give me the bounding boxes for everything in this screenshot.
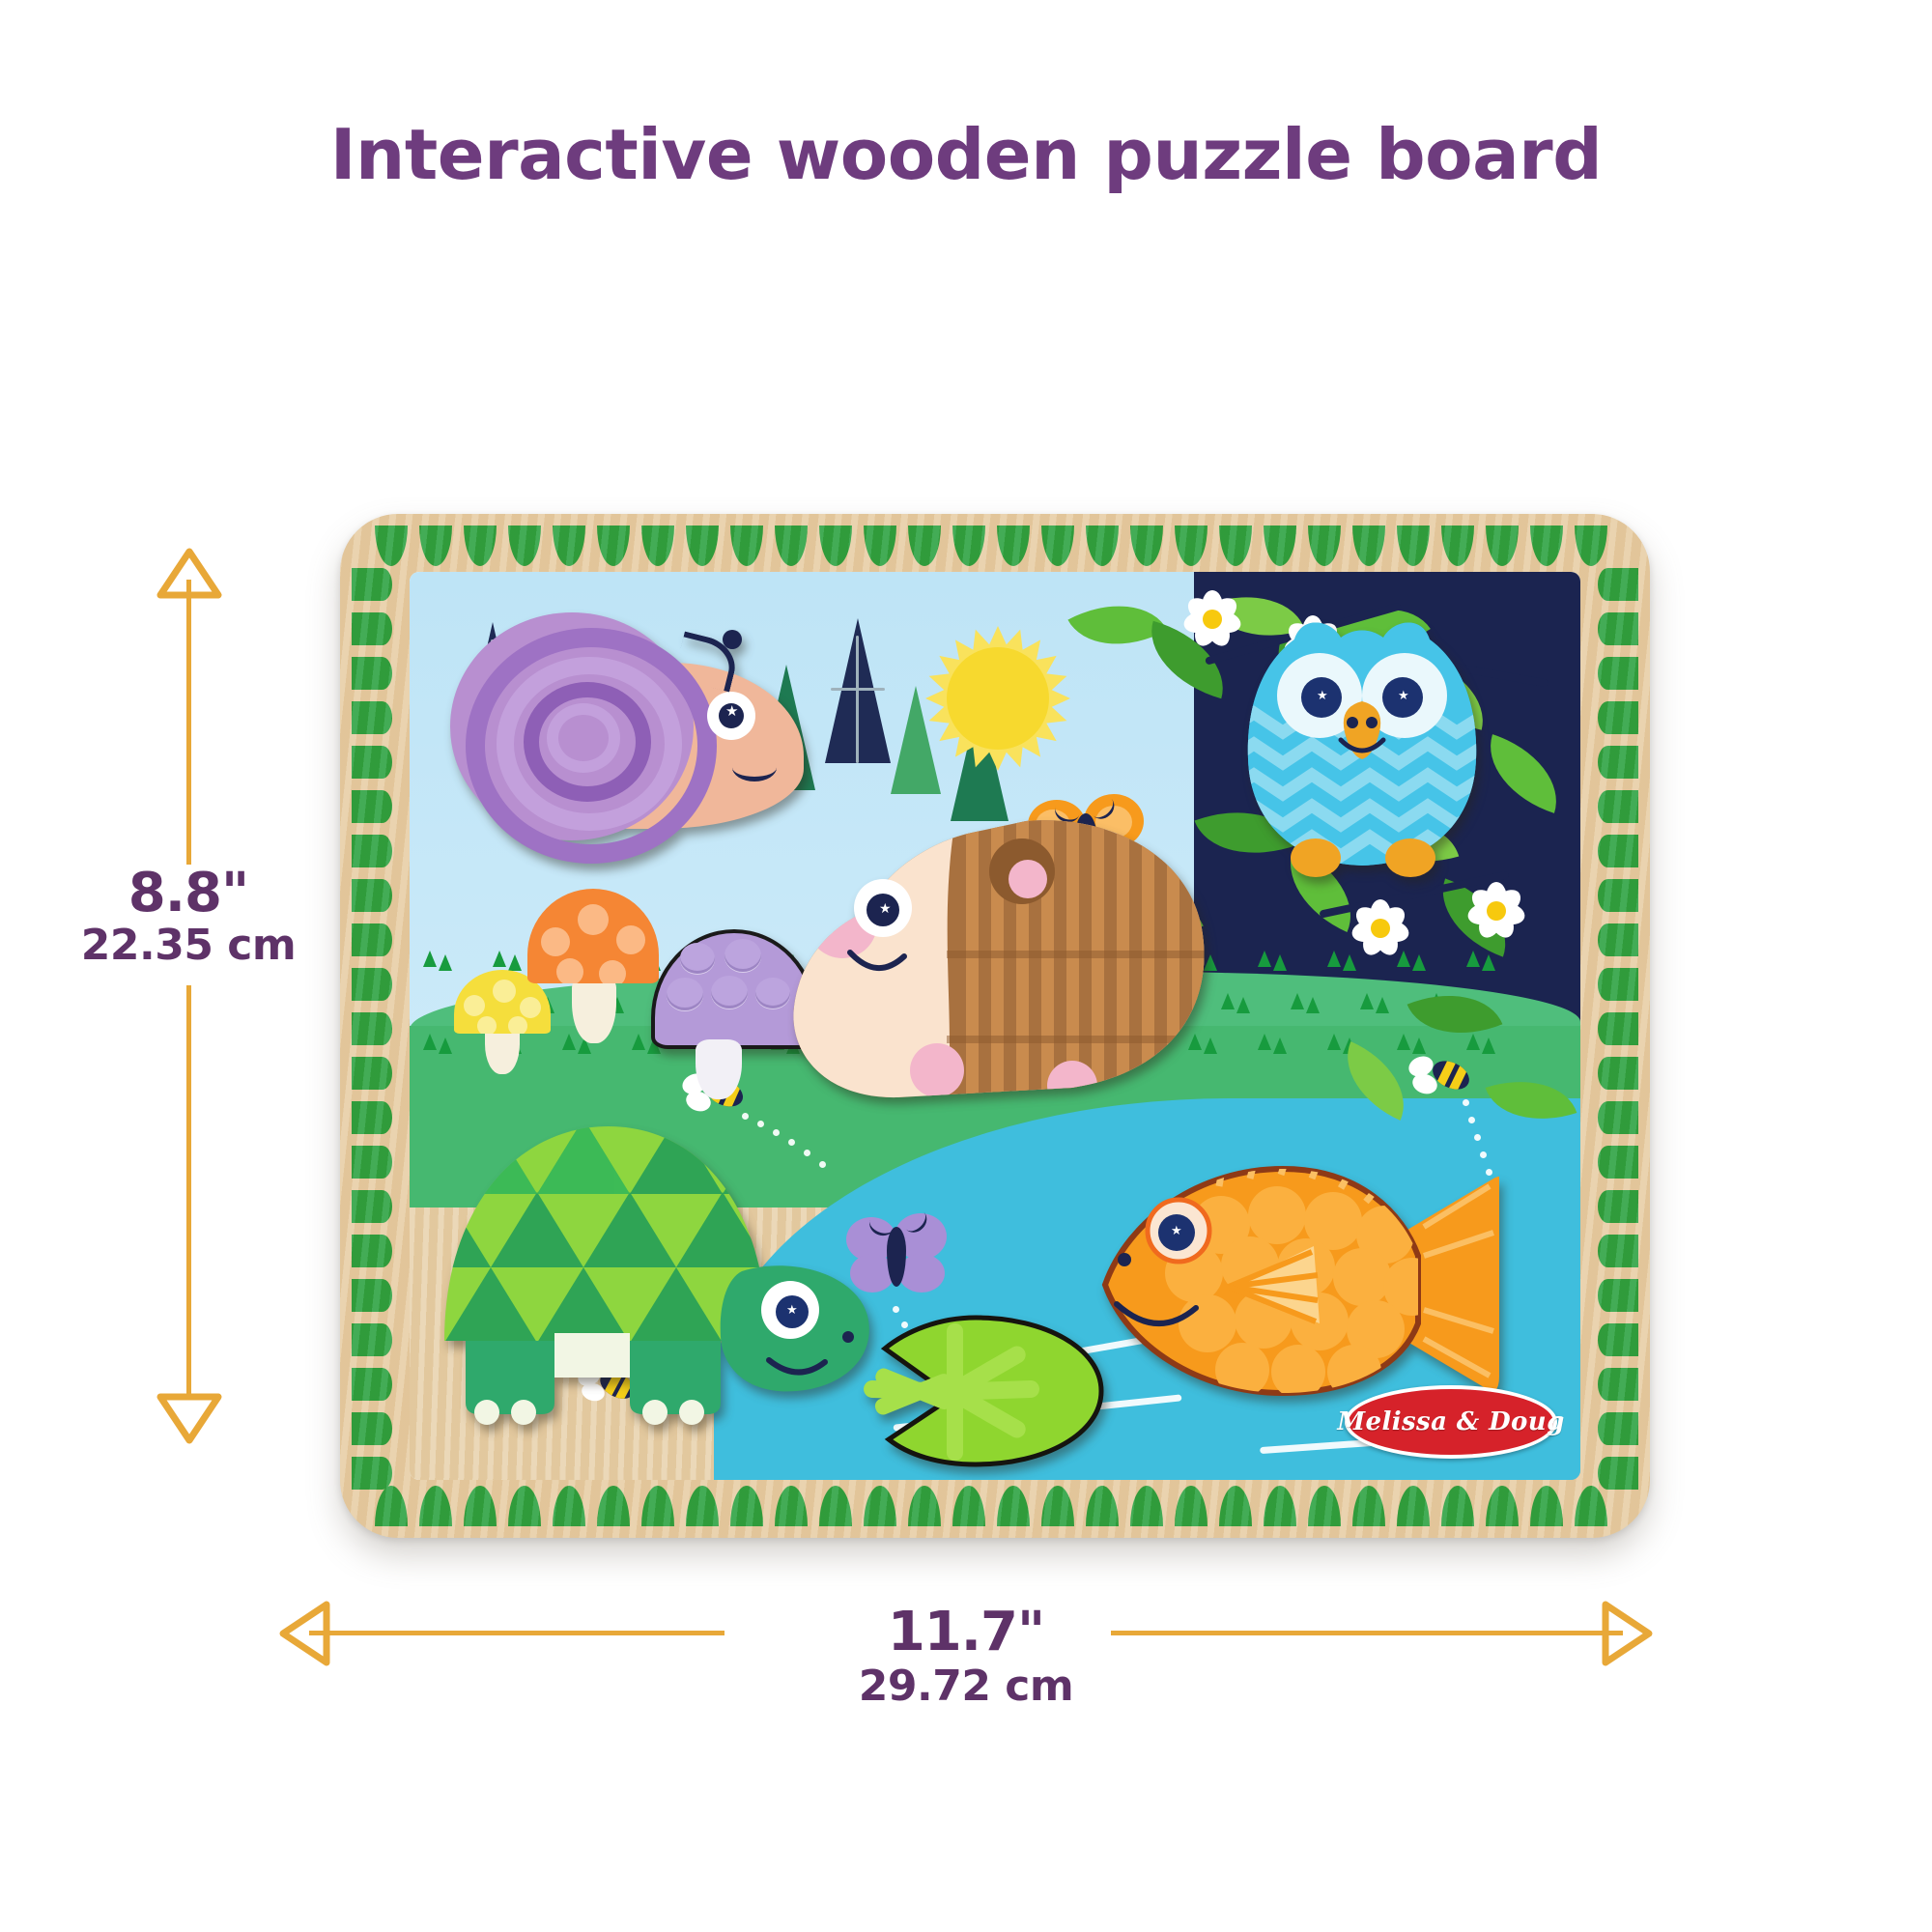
tree-branch-3 xyxy=(831,688,885,691)
lilypad-piece[interactable] xyxy=(846,1314,1105,1470)
border-leaf-left-6 xyxy=(352,835,392,867)
height-arrow-down-icon xyxy=(155,1391,224,1445)
width-value-imperial: 11.7" xyxy=(720,1604,1212,1662)
height-line-lower xyxy=(186,985,191,1396)
border-leaf-left-4 xyxy=(352,746,392,779)
border-leaf-right-19 xyxy=(1598,1412,1638,1445)
border-leaf-right-4 xyxy=(1598,746,1638,779)
border-leaf-top-0 xyxy=(375,526,408,566)
border-leaf-left-15 xyxy=(352,1235,392,1267)
border-leaf-right-16 xyxy=(1598,1279,1638,1312)
owl-eye-star-right-icon: ★ xyxy=(1398,690,1409,702)
border-leaf-top-14 xyxy=(997,526,1030,566)
border-leaf-left-12 xyxy=(352,1101,392,1134)
border-leaf-top-6 xyxy=(641,526,674,566)
border-leaf-left-10 xyxy=(352,1012,392,1045)
border-leaf-bottom-14 xyxy=(997,1486,1030,1526)
owl-piece[interactable]: ★ ★ xyxy=(1235,605,1490,887)
height-value-metric: 22.35 cm xyxy=(39,923,338,969)
border-leaf-bottom-23 xyxy=(1397,1486,1430,1526)
grass-blade-55 xyxy=(1236,997,1250,1013)
brand-logo-text: Melissa & Doug xyxy=(1337,1407,1564,1436)
border-leaf-top-21 xyxy=(1308,526,1341,566)
border-leaf-top-24 xyxy=(1441,526,1474,566)
width-line-left xyxy=(309,1631,724,1635)
border-leaf-top-7 xyxy=(686,526,719,566)
border-leaf-top-17 xyxy=(1130,526,1163,566)
border-leaf-left-8 xyxy=(352,923,392,956)
border-leaf-left-17 xyxy=(352,1323,392,1356)
border-leaf-right-20 xyxy=(1598,1457,1638,1490)
border-leaf-left-20 xyxy=(352,1457,392,1490)
border-leaf-bottom-1 xyxy=(419,1486,452,1526)
border-leaf-right-6 xyxy=(1598,835,1638,867)
grass-blade-59 xyxy=(1376,997,1389,1013)
border-leaf-right-13 xyxy=(1598,1146,1638,1179)
border-leaf-right-17 xyxy=(1598,1323,1638,1356)
wooden-puzzle-board[interactable]: ★ xyxy=(340,514,1650,1538)
border-leaf-right-15 xyxy=(1598,1235,1638,1267)
border-leaf-top-23 xyxy=(1397,526,1430,566)
border-leaf-right-8 xyxy=(1598,923,1638,956)
border-leaf-top-1 xyxy=(419,526,452,566)
border-leaf-top-15 xyxy=(1041,526,1074,566)
border-leaf-bottom-19 xyxy=(1219,1486,1252,1526)
brand-logo: Melissa & Doug xyxy=(1345,1385,1557,1459)
border-leaf-bottom-27 xyxy=(1575,1486,1607,1526)
border-leaf-right-3 xyxy=(1598,701,1638,734)
grass-blade-92 xyxy=(1466,1034,1480,1050)
border-leaf-left-13 xyxy=(352,1146,392,1179)
daisy-center xyxy=(1487,901,1506,921)
height-value-imperial: 8.8" xyxy=(39,865,338,923)
grass-blade-90 xyxy=(1397,1034,1410,1050)
border-leaf-right-10 xyxy=(1598,1012,1638,1045)
grass-blade-31 xyxy=(1482,954,1495,971)
grass-blade-63 xyxy=(439,1037,452,1054)
border-leaf-bottom-9 xyxy=(775,1486,808,1526)
grass-blade-1 xyxy=(439,954,452,971)
border-leaf-bottom-22 xyxy=(1352,1486,1385,1526)
grass-blade-2 xyxy=(493,951,506,967)
owl-shape xyxy=(1235,605,1490,887)
snail-piece[interactable]: ★ xyxy=(450,612,817,837)
sun-disc xyxy=(947,647,1049,750)
border-leaf-right-0 xyxy=(1598,568,1638,601)
border-leaf-bottom-0 xyxy=(375,1486,408,1526)
grass-blade-86 xyxy=(1258,1034,1271,1050)
border-leaf-top-12 xyxy=(908,526,941,566)
border-leaf-bottom-15 xyxy=(1041,1486,1074,1526)
border-leaf-right-5 xyxy=(1598,790,1638,823)
border-leaf-right-18 xyxy=(1598,1368,1638,1401)
border-leaf-top-8 xyxy=(730,526,763,566)
border-leaf-bottom-2 xyxy=(464,1486,497,1526)
border-leaf-top-22 xyxy=(1352,526,1385,566)
turtle-shape xyxy=(431,1101,885,1435)
border-leaf-bottom-8 xyxy=(730,1486,763,1526)
border-leaf-top-3 xyxy=(508,526,541,566)
daisy-2 xyxy=(1343,891,1418,966)
grass-blade-68 xyxy=(632,1034,645,1050)
border-leaf-bottom-24 xyxy=(1441,1486,1474,1526)
fish-shape xyxy=(1084,1140,1499,1426)
border-leaf-right-7 xyxy=(1598,879,1638,912)
grass-blade-93 xyxy=(1482,1037,1495,1054)
border-leaf-top-10 xyxy=(819,526,852,566)
border-leaf-bottom-20 xyxy=(1264,1486,1296,1526)
fish-piece[interactable]: ★ xyxy=(1084,1140,1499,1426)
border-leaf-top-20 xyxy=(1264,526,1296,566)
border-leaf-bottom-10 xyxy=(819,1486,852,1526)
border-leaf-bottom-4 xyxy=(553,1486,585,1526)
border-leaf-left-0 xyxy=(352,568,392,601)
grass-blade-24 xyxy=(1258,951,1271,967)
border-leaf-top-26 xyxy=(1530,526,1563,566)
border-leaf-bottom-26 xyxy=(1530,1486,1563,1526)
daisy-center xyxy=(1203,610,1222,629)
fish-eye-star-icon: ★ xyxy=(1171,1225,1182,1237)
border-leaf-left-14 xyxy=(352,1190,392,1223)
grass-blade-25 xyxy=(1273,954,1287,971)
border-leaf-right-11 xyxy=(1598,1057,1638,1090)
border-leaf-left-11 xyxy=(352,1057,392,1090)
border-leaf-bottom-7 xyxy=(686,1486,719,1526)
border-leaf-left-9 xyxy=(352,968,392,1001)
border-leaf-top-5 xyxy=(597,526,630,566)
grass-blade-87 xyxy=(1273,1037,1287,1054)
grass-blade-58 xyxy=(1360,993,1374,1009)
daisy-center xyxy=(1371,919,1390,938)
border-leaf-left-2 xyxy=(352,657,392,690)
border-leaf-top-27 xyxy=(1575,526,1607,566)
hedgehog-piece[interactable]: ★ xyxy=(782,808,1215,1109)
border-leaf-right-9 xyxy=(1598,968,1638,1001)
border-leaf-top-13 xyxy=(952,526,985,566)
border-leaf-top-25 xyxy=(1486,526,1519,566)
grass-blade-26 xyxy=(1327,951,1341,967)
grass-blade-3 xyxy=(508,954,522,971)
border-leaf-left-3 xyxy=(352,701,392,734)
border-leaf-bottom-12 xyxy=(908,1486,941,1526)
grass-blade-0 xyxy=(423,951,437,967)
height-line-upper xyxy=(186,580,191,865)
border-leaf-bottom-25 xyxy=(1486,1486,1519,1526)
width-value-metric: 29.72 cm xyxy=(720,1663,1212,1710)
snail-eye-star-icon: ★ xyxy=(725,704,738,719)
border-leaf-bottom-18 xyxy=(1175,1486,1207,1526)
hedgehog-eye-star-icon: ★ xyxy=(879,902,892,916)
border-leaf-bottom-3 xyxy=(508,1486,541,1526)
grass-blade-91 xyxy=(1412,1037,1426,1054)
border-leaf-bottom-17 xyxy=(1130,1486,1163,1526)
border-leaf-top-2 xyxy=(464,526,497,566)
border-leaf-left-18 xyxy=(352,1368,392,1401)
border-leaf-left-5 xyxy=(352,790,392,823)
border-leaf-top-4 xyxy=(553,526,585,566)
border-leaf-bottom-5 xyxy=(597,1486,630,1526)
border-leaf-top-19 xyxy=(1219,526,1252,566)
border-leaf-left-7 xyxy=(352,879,392,912)
width-arrow-right-icon xyxy=(1600,1599,1654,1668)
lilypad-shape xyxy=(846,1314,1105,1470)
border-leaf-right-12 xyxy=(1598,1101,1638,1134)
border-leaf-bottom-13 xyxy=(952,1486,985,1526)
border-leaf-top-9 xyxy=(775,526,808,566)
border-leaf-bottom-16 xyxy=(1086,1486,1119,1526)
snail-antenna-tip xyxy=(723,630,742,649)
border-leaf-bottom-21 xyxy=(1308,1486,1341,1526)
border-leaf-right-1 xyxy=(1598,612,1638,645)
hedgehog-shape xyxy=(782,808,1215,1109)
border-leaf-bottom-11 xyxy=(864,1486,896,1526)
border-leaf-right-14 xyxy=(1598,1190,1638,1223)
border-leaf-top-16 xyxy=(1086,526,1119,566)
border-leaf-right-2 xyxy=(1598,657,1638,690)
grass-blade-66 xyxy=(562,1034,576,1050)
page-title: Interactive wooden puzzle board xyxy=(0,114,1932,195)
tree-trunk-line-2 xyxy=(856,636,859,763)
border-leaf-left-1 xyxy=(352,612,392,645)
height-arrow-up-icon xyxy=(155,547,224,601)
width-arrow-left-icon xyxy=(278,1599,332,1668)
grass-blade-56 xyxy=(1291,993,1304,1009)
owl-eye-star-left-icon: ★ xyxy=(1317,690,1328,702)
puzzle-scene-artwork: ★ xyxy=(410,572,1580,1480)
grass-blade-88 xyxy=(1327,1034,1341,1050)
border-leaf-left-16 xyxy=(352,1279,392,1312)
turtle-piece[interactable]: ★ xyxy=(431,1101,885,1435)
border-leaf-bottom-6 xyxy=(641,1486,674,1526)
grass-blade-57 xyxy=(1306,997,1320,1013)
border-leaf-top-11 xyxy=(864,526,896,566)
border-leaf-top-18 xyxy=(1175,526,1207,566)
grass-blade-54 xyxy=(1221,993,1235,1009)
grass-blade-62 xyxy=(423,1034,437,1050)
product-image-canvas: Interactive wooden puzzle board 8.8" 22.… xyxy=(0,0,1932,1932)
border-leaf-left-19 xyxy=(352,1412,392,1445)
grass-blade-30 xyxy=(1466,951,1480,967)
turtle-eye-star-icon: ★ xyxy=(786,1304,798,1317)
